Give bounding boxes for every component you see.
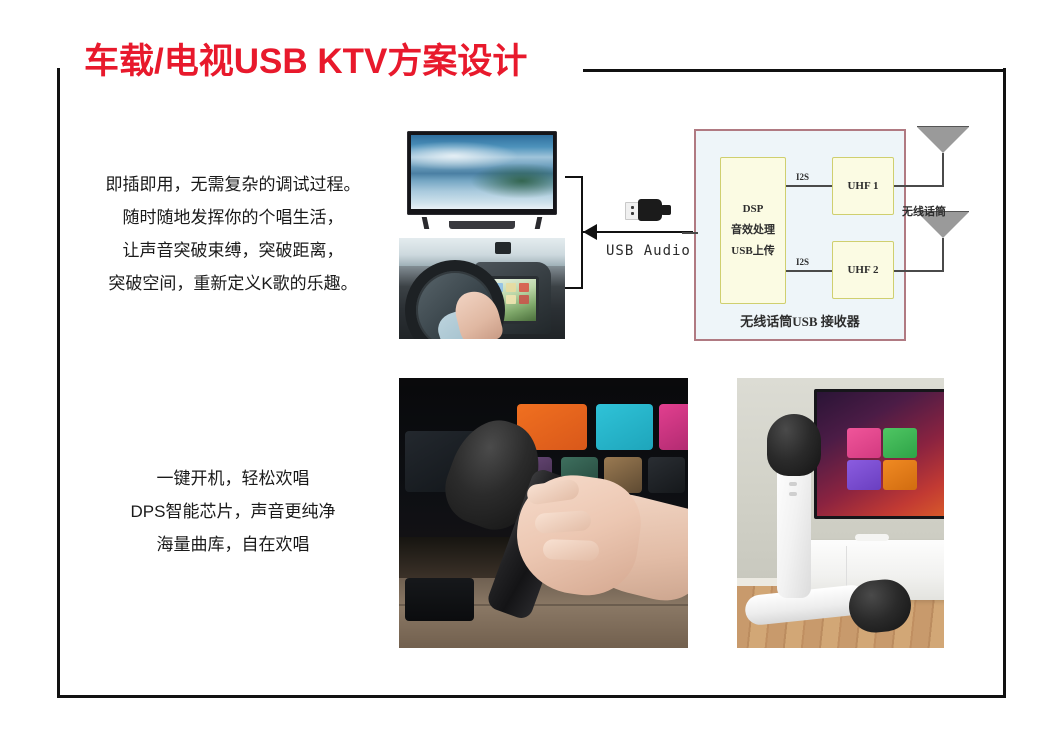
antenna2-stem [942,238,944,272]
dsp-label-line2: 音效处理 [731,220,775,241]
intro-copy-line: 突破空间，重新定义K歌的乐趣。 [78,267,388,300]
usb-audio-arrow-icon [583,224,597,240]
user-finger [543,539,600,561]
usb-cable-tail [661,205,671,215]
intro-copy-block: 即插即用，无需复杂的调试过程。 随时随地发挥你的个唱生活， 让声音突破束缚，突破… [78,168,388,301]
usb-shell [638,199,662,221]
uhf1-block: UHF 1 [832,157,894,215]
user-finger [534,510,591,534]
mic-in-car-photo [399,378,688,648]
standing-microphone-foam-head [767,414,821,476]
usb-audio-wire [583,231,693,233]
usb-connector-icon [625,199,671,221]
car-interior-photo [399,238,565,339]
diagram-caption: 无线话筒USB 接收器 [696,311,904,330]
tv-foot-left [422,217,430,229]
car-dashcam [495,242,511,254]
antenna1-stem [942,153,944,187]
uhf2-antenna-line [894,270,944,272]
uhf2-label: UHF 2 [847,264,878,276]
i2s-link-1 [786,185,832,187]
wireless-mic-label: 无线话筒 [902,203,946,219]
car-air-vent [405,578,474,621]
feature-copy-line: 海量曲库，自在欢唱 [78,528,388,561]
dsp-label-line1: DSP [743,199,764,220]
uhf1-antenna-line [894,185,944,187]
i2s-label-2: I2S [796,257,809,267]
feature-copy-block: 一键开机，轻松欢唱 DPS智能芯片，声音更纯净 海量曲库，自在欢唱 [78,462,388,561]
usb-audio-label: USB Audio [606,243,691,259]
dsp-block: DSP 音效处理 USB上传 [720,157,786,304]
i2s-label-1: I2S [796,172,809,182]
tv-photo [399,127,565,229]
feature-copy-line: DPS智能芯片，声音更纯净 [78,495,388,528]
remote-control [855,534,889,541]
receiver-block-diagram: DSP 音效处理 USB上传 I2S I2S UHF 1 UHF 2 无线话筒 … [694,129,906,341]
uhf2-block: UHF 2 [832,241,894,299]
frame-left-border [57,68,60,698]
living-room-mic-photo [737,378,944,648]
intro-copy-line: 让声音突破束缚，突破距离， [78,234,388,267]
i2s-link-2 [786,270,832,272]
wall-mounted-tv [814,389,944,519]
car-wire-vertical [581,232,583,289]
dsp-label-line3: USB上传 [731,241,774,262]
intro-copy-line: 随时随地发挥你的个唱生活， [78,201,388,234]
tv-foot-right [535,217,543,229]
tv-stand [449,221,515,229]
tv-bezel [407,131,557,215]
title-underline-rule [583,69,1006,72]
diagram-input-line [682,232,698,234]
intro-copy-line: 即插即用，无需复杂的调试过程。 [78,168,388,201]
uhf1-label: UHF 1 [847,180,878,192]
frame-bottom-border [57,695,1006,698]
page-title: 车载/电视USB KTV方案设计 [84,44,527,79]
antenna-icon-1 [917,127,969,153]
frame-right-border [1003,68,1006,698]
feature-copy-line: 一键开机，轻松欢唱 [78,462,388,495]
tv-screen-image [411,135,553,209]
